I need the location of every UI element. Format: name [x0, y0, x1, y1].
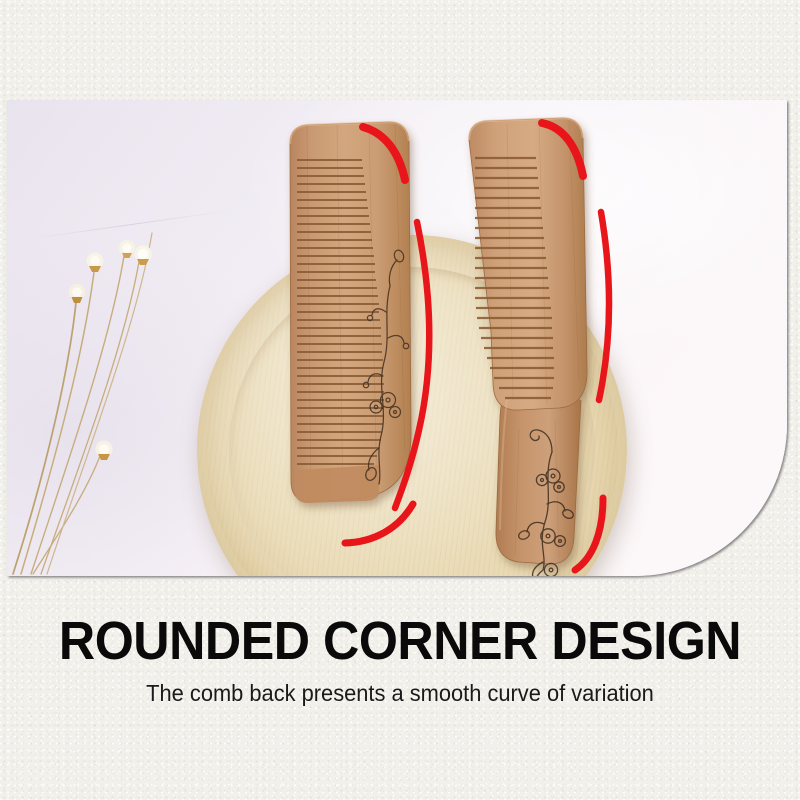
product-photo: [7, 100, 787, 576]
page-subtitle: The comb back presents a smooth curve of…: [20, 680, 780, 707]
page-title: ROUNDED CORNER DESIGN: [28, 612, 772, 670]
caption-block: ROUNDED CORNER DESIGN The comb back pres…: [0, 612, 800, 707]
banner-page: ROUNDED CORNER DESIGN The comb back pres…: [0, 0, 800, 800]
